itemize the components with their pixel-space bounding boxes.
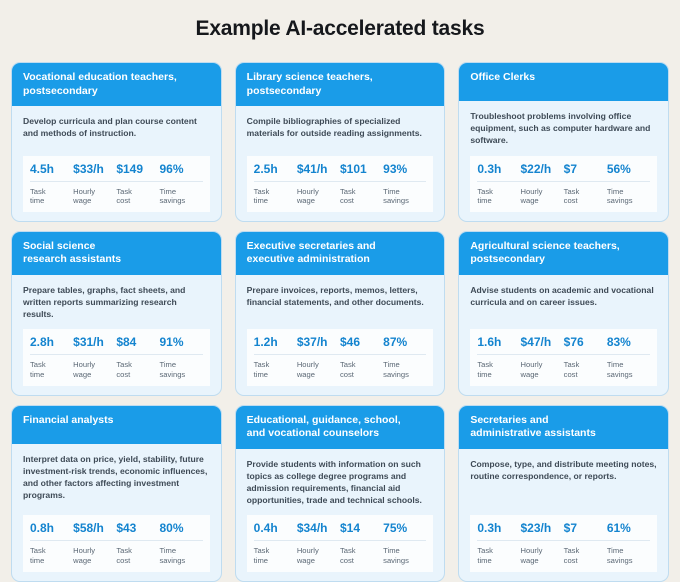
stat-label-line2: cost [564, 556, 607, 566]
card-title-line1: Educational, guidance, school, [247, 414, 434, 428]
stat-value-task-time: 4.5h [30, 162, 73, 176]
stat-value-task-cost: $84 [116, 335, 159, 349]
card-title-line1: Library science teachers, [247, 71, 434, 85]
stat-label-line1: Time [383, 546, 426, 556]
card-header: Secretaries and administrative assistant… [459, 406, 668, 449]
stat-value-time-savings: 93% [383, 162, 426, 176]
stat-label-task-cost: Task cost [340, 360, 383, 379]
stat-label-task-cost: Task cost [564, 360, 607, 379]
card-body: Prepare tables, graphs, fact sheets, and… [12, 275, 221, 395]
stat-value-hourly-wage: $58/h [73, 521, 116, 535]
stat-value-task-cost: $149 [116, 162, 159, 176]
stat-value-task-time: 0.3h [477, 521, 520, 535]
stat-labels-row: Task time Hourly wage Task cost Time [30, 355, 203, 379]
stat-label-line1: Hourly [73, 360, 116, 370]
stat-value-task-time: 0.8h [30, 521, 73, 535]
stat-value-task-time: 2.8h [30, 335, 73, 349]
card-title-line1: Agricultural science teachers, [470, 240, 657, 254]
stat-value-hourly-wage: $41/h [297, 162, 340, 176]
stat-values-row: 0.8h $58/h $43 80% [30, 521, 203, 541]
stat-label-line2: savings [159, 196, 202, 206]
stat-value-hourly-wage: $47/h [520, 335, 563, 349]
stat-label-line1: Hourly [297, 546, 340, 556]
stat-label-hourly-wage: Hourly wage [73, 360, 116, 379]
stat-label-line2: cost [116, 370, 159, 380]
stat-label-time-savings: Time savings [383, 360, 426, 379]
stat-label-task-time: Task time [30, 546, 73, 565]
stat-label-task-time: Task time [254, 360, 297, 379]
stat-label-task-cost: Task cost [564, 546, 607, 565]
stat-label-line2: wage [297, 370, 340, 380]
stat-label-line2: time [254, 370, 297, 380]
stat-label-line1: Time [383, 360, 426, 370]
stat-value-hourly-wage: $22/h [520, 162, 563, 176]
stat-values-row: 4.5h $33/h $149 96% [30, 162, 203, 182]
stat-value-hourly-wage: $23/h [520, 521, 563, 535]
page-title: Example AI-accelerated tasks [0, 0, 680, 42]
card-body: Advise students on academic and vocation… [459, 275, 668, 395]
stat-labels-row: Task time Hourly wage Task cost Time [254, 355, 427, 379]
stat-label-line2: wage [73, 196, 116, 206]
stat-label-line1: Hourly [73, 187, 116, 197]
task-card: Secretaries and administrative assistant… [458, 405, 669, 582]
card-body: Compose, type, and distribute meeting no… [459, 449, 668, 581]
stat-label-line1: Task [30, 360, 73, 370]
stat-label-line2: savings [383, 196, 426, 206]
stat-label-line2: time [477, 196, 520, 206]
stats-panel: 4.5h $33/h $149 96% Task time Hourly wag… [23, 156, 210, 212]
stat-value-task-cost: $7 [564, 521, 607, 535]
stat-label-time-savings: Time savings [159, 187, 202, 206]
task-card: Financial analysts Interpret data on pri… [11, 405, 222, 582]
stat-label-time-savings: Time savings [383, 187, 426, 206]
stat-label-line1: Time [383, 187, 426, 197]
card-title-line1: Office Clerks [470, 71, 657, 85]
stat-label-line2: wage [520, 370, 563, 380]
infographic-page: Example AI-accelerated tasks Vocational … [0, 0, 680, 544]
stat-label-task-time: Task time [30, 360, 73, 379]
stat-label-line2: time [30, 196, 73, 206]
card-title-line1: Social science [23, 240, 210, 254]
stat-label-hourly-wage: Hourly wage [297, 360, 340, 379]
stat-label-task-time: Task time [477, 187, 520, 206]
card-header: Social science research assistants [12, 232, 221, 275]
card-title-line1: Executive secretaries and [247, 240, 434, 254]
stat-label-line1: Time [159, 360, 202, 370]
stat-label-task-time: Task time [477, 360, 520, 379]
stat-label-line1: Hourly [73, 546, 116, 556]
stat-label-task-time: Task time [254, 187, 297, 206]
stat-label-line2: cost [116, 556, 159, 566]
stat-value-time-savings: 56% [607, 162, 650, 176]
card-header: Educational, guidance, school, and vocat… [236, 406, 445, 449]
stat-values-row: 0.4h $34/h $14 75% [254, 521, 427, 541]
card-description: Interpret data on price, yield, stabilit… [23, 453, 210, 507]
card-title-line2: postsecondary [470, 253, 657, 267]
stat-label-line2: savings [159, 370, 202, 380]
stat-label-line2: savings [383, 556, 426, 566]
card-body: Compile bibliographies of specialized ma… [236, 106, 445, 221]
stat-label-line1: Task [116, 360, 159, 370]
task-card: Executive secretaries and executive admi… [235, 231, 446, 396]
stat-label-line1: Time [607, 360, 650, 370]
stat-label-line1: Task [116, 546, 159, 556]
stat-label-hourly-wage: Hourly wage [520, 546, 563, 565]
stat-labels-row: Task time Hourly wage Task cost Time [30, 541, 203, 565]
stat-label-line1: Task [254, 187, 297, 197]
card-title-line1: Vocational education teachers, [23, 71, 210, 85]
stat-label-time-savings: Time savings [159, 546, 202, 565]
stat-label-line2: cost [340, 556, 383, 566]
stat-label-line2: cost [564, 196, 607, 206]
stat-label-line1: Task [340, 546, 383, 556]
stat-value-task-cost: $7 [564, 162, 607, 176]
stat-label-line2: time [30, 370, 73, 380]
stat-value-hourly-wage: $34/h [297, 521, 340, 535]
stat-value-time-savings: 80% [159, 521, 202, 535]
card-description: Compose, type, and distribute meeting no… [470, 458, 657, 507]
stat-label-task-cost: Task cost [340, 546, 383, 565]
stat-value-task-time: 2.5h [254, 162, 297, 176]
stat-label-line1: Task [340, 360, 383, 370]
stat-labels-row: Task time Hourly wage Task cost Time [477, 182, 650, 206]
card-title-line2: and vocational counselors [247, 427, 434, 441]
stat-value-hourly-wage: $37/h [297, 335, 340, 349]
stat-label-line2: savings [159, 556, 202, 566]
stat-value-task-cost: $101 [340, 162, 383, 176]
task-card: Social science research assistants Prepa… [11, 231, 222, 396]
stat-label-line1: Time [159, 546, 202, 556]
card-header: Agricultural science teachers, postsecon… [459, 232, 668, 275]
stat-value-time-savings: 83% [607, 335, 650, 349]
card-description: Advise students on academic and vocation… [470, 284, 657, 321]
task-card: Educational, guidance, school, and vocat… [235, 405, 446, 582]
stats-panel: 0.3h $22/h $7 56% Task time Hourly wage [470, 156, 657, 212]
stat-value-task-cost: $14 [340, 521, 383, 535]
stat-label-line2: time [477, 556, 520, 566]
stat-label-line2: wage [520, 556, 563, 566]
stat-label-time-savings: Time savings [383, 546, 426, 565]
stat-label-line2: wage [73, 370, 116, 380]
stat-label-line1: Hourly [297, 360, 340, 370]
stat-label-task-time: Task time [30, 187, 73, 206]
stats-panel: 2.5h $41/h $101 93% Task time Hourly wag… [247, 156, 434, 212]
stat-label-line2: cost [340, 370, 383, 380]
stat-label-line1: Hourly [520, 546, 563, 556]
stat-values-row: 2.5h $41/h $101 93% [254, 162, 427, 182]
stat-value-task-time: 0.3h [477, 162, 520, 176]
stat-value-hourly-wage: $33/h [73, 162, 116, 176]
card-header: Vocational education teachers, postsecon… [12, 63, 221, 106]
stat-labels-row: Task time Hourly wage Task cost Time [477, 541, 650, 565]
stat-value-time-savings: 61% [607, 521, 650, 535]
stat-label-task-cost: Task cost [340, 187, 383, 206]
stat-value-time-savings: 87% [383, 335, 426, 349]
stat-label-line2: savings [607, 370, 650, 380]
card-header: Office Clerks [459, 63, 668, 101]
stat-label-hourly-wage: Hourly wage [520, 360, 563, 379]
stat-value-task-time: 1.2h [254, 335, 297, 349]
card-header: Library science teachers, postsecondary [236, 63, 445, 106]
stat-label-line2: wage [297, 196, 340, 206]
stat-label-line1: Task [254, 546, 297, 556]
stat-value-hourly-wage: $31/h [73, 335, 116, 349]
stat-labels-row: Task time Hourly wage Task cost Time [254, 541, 427, 565]
stat-label-line2: time [254, 556, 297, 566]
stat-label-line2: savings [607, 556, 650, 566]
stat-label-line2: cost [340, 196, 383, 206]
stat-label-hourly-wage: Hourly wage [297, 187, 340, 206]
stat-label-line1: Task [30, 546, 73, 556]
stats-panel: 1.2h $37/h $46 87% Task time Hourly wage [247, 329, 434, 385]
stat-label-hourly-wage: Hourly wage [73, 187, 116, 206]
card-title-line1: Financial analysts [23, 414, 210, 428]
card-description: Prepare tables, graphs, fact sheets, and… [23, 284, 210, 321]
task-card: Library science teachers, postsecondary … [235, 62, 446, 222]
task-card: Agricultural science teachers, postsecon… [458, 231, 669, 396]
stat-label-task-cost: Task cost [564, 187, 607, 206]
card-title-line2: administrative assistants [470, 427, 657, 441]
task-card: Office Clerks Troubleshoot problems invo… [458, 62, 669, 222]
stat-label-line2: wage [73, 556, 116, 566]
card-title-line2: postsecondary [247, 85, 434, 99]
stat-values-row: 1.2h $37/h $46 87% [254, 335, 427, 355]
card-body: Interpret data on price, yield, stabilit… [12, 444, 221, 581]
stat-label-line2: savings [383, 370, 426, 380]
stat-label-task-time: Task time [477, 546, 520, 565]
stat-label-line1: Hourly [520, 187, 563, 197]
card-body: Prepare invoices, reports, memos, letter… [236, 275, 445, 395]
stat-value-time-savings: 96% [159, 162, 202, 176]
stat-label-task-time: Task time [254, 546, 297, 565]
card-body: Provide students with information on suc… [236, 449, 445, 581]
stat-label-hourly-wage: Hourly wage [297, 546, 340, 565]
card-title-line2: research assistants [23, 253, 210, 267]
card-title-line2: executive administration [247, 253, 434, 267]
stat-label-task-cost: Task cost [116, 187, 159, 206]
stat-value-task-time: 0.4h [254, 521, 297, 535]
stat-value-time-savings: 91% [159, 335, 202, 349]
card-header: Financial analysts [12, 406, 221, 444]
stat-label-task-cost: Task cost [116, 360, 159, 379]
card-body: Develop curricula and plan course conten… [12, 106, 221, 221]
stat-label-line2: wage [520, 196, 563, 206]
card-description: Troubleshoot problems involving office e… [470, 110, 657, 147]
card-description: Compile bibliographies of specialized ma… [247, 115, 434, 147]
card-title-line2: postsecondary [23, 85, 210, 99]
stat-label-time-savings: Time savings [159, 360, 202, 379]
stat-values-row: 0.3h $23/h $7 61% [477, 521, 650, 541]
card-description: Develop curricula and plan course conten… [23, 115, 210, 147]
stat-label-line1: Task [564, 187, 607, 197]
stat-label-line2: savings [607, 196, 650, 206]
stat-label-line2: cost [116, 196, 159, 206]
stat-values-row: 0.3h $22/h $7 56% [477, 162, 650, 182]
stat-label-line1: Time [607, 546, 650, 556]
stat-label-line1: Task [477, 187, 520, 197]
stat-value-task-cost: $43 [116, 521, 159, 535]
stat-label-time-savings: Time savings [607, 360, 650, 379]
stat-label-line2: time [477, 370, 520, 380]
stat-label-time-savings: Time savings [607, 546, 650, 565]
card-description: Prepare invoices, reports, memos, letter… [247, 284, 434, 321]
stat-value-task-time: 1.6h [477, 335, 520, 349]
stat-values-row: 2.8h $31/h $84 91% [30, 335, 203, 355]
stat-label-line1: Task [477, 546, 520, 556]
task-card: Vocational education teachers, postsecon… [11, 62, 222, 222]
stat-value-time-savings: 75% [383, 521, 426, 535]
card-body: Troubleshoot problems involving office e… [459, 101, 668, 221]
stat-label-line1: Task [254, 360, 297, 370]
stat-label-line1: Task [477, 360, 520, 370]
stat-value-task-cost: $76 [564, 335, 607, 349]
task-card-grid: Vocational education teachers, postsecon… [11, 62, 669, 582]
stat-labels-row: Task time Hourly wage Task cost Time [30, 182, 203, 206]
stat-label-line1: Time [607, 187, 650, 197]
stat-label-hourly-wage: Hourly wage [520, 187, 563, 206]
stat-labels-row: Task time Hourly wage Task cost Time [254, 182, 427, 206]
stat-labels-row: Task time Hourly wage Task cost Time [477, 355, 650, 379]
stats-panel: 1.6h $47/h $76 83% Task time Hourly wage [470, 329, 657, 385]
stat-label-line2: time [30, 556, 73, 566]
stat-label-hourly-wage: Hourly wage [73, 546, 116, 565]
card-header: Executive secretaries and executive admi… [236, 232, 445, 275]
stat-label-line1: Task [340, 187, 383, 197]
stat-label-time-savings: Time savings [607, 187, 650, 206]
stat-label-task-cost: Task cost [116, 546, 159, 565]
stat-label-line1: Task [564, 546, 607, 556]
stat-label-line2: cost [564, 370, 607, 380]
stat-label-line1: Task [564, 360, 607, 370]
stat-values-row: 1.6h $47/h $76 83% [477, 335, 650, 355]
stat-label-line2: wage [297, 556, 340, 566]
stat-label-line1: Task [116, 187, 159, 197]
stat-label-line1: Time [159, 187, 202, 197]
stat-label-line2: time [254, 196, 297, 206]
stat-label-line1: Task [30, 187, 73, 197]
card-title-line1: Secretaries and [470, 414, 657, 428]
stat-label-line1: Hourly [520, 360, 563, 370]
stats-panel: 2.8h $31/h $84 91% Task time Hourly wage [23, 329, 210, 385]
card-description: Provide students with information on suc… [247, 458, 434, 507]
stat-value-task-cost: $46 [340, 335, 383, 349]
stat-label-line1: Hourly [297, 187, 340, 197]
